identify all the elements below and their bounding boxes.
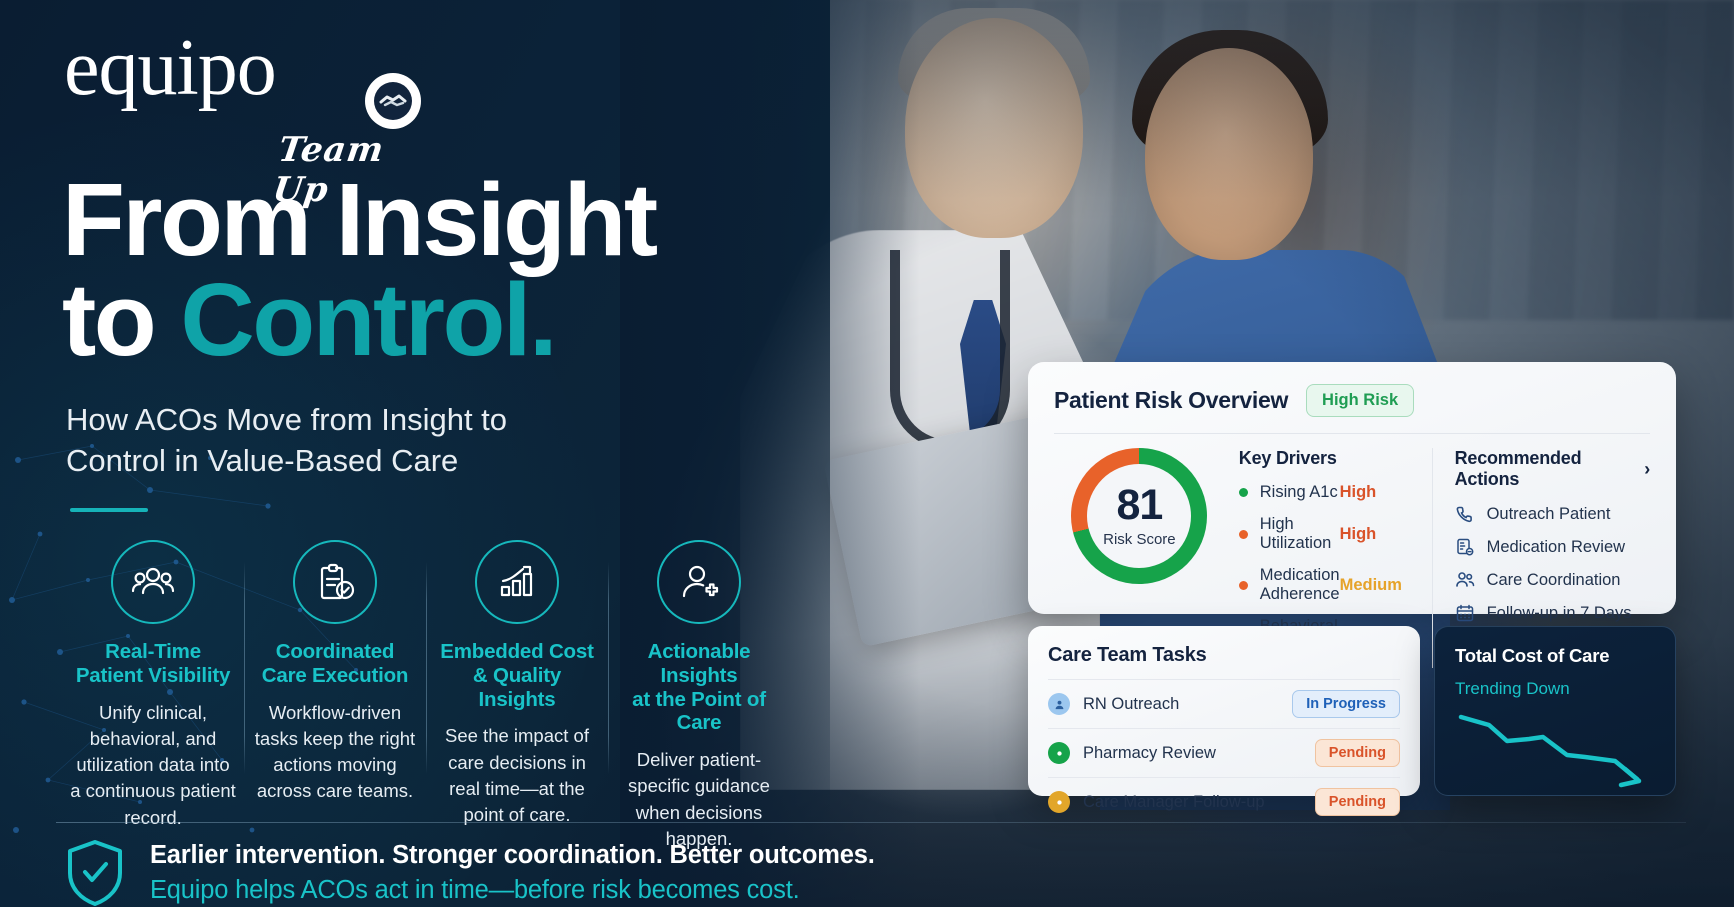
calendar-icon xyxy=(1455,603,1475,623)
closing-banner: Earlier intervention. Stronger coordinat… xyxy=(64,838,875,907)
subheadline: How ACOs Move from Insight to Control in… xyxy=(66,400,626,482)
cost-trend-line-chart xyxy=(1455,707,1655,793)
task-status-icon xyxy=(1048,791,1070,813)
clipboard-check-icon xyxy=(293,540,377,624)
feature-body: Deliver patient-specific guidance when d… xyxy=(616,747,782,852)
key-drivers-heading: Key Drivers xyxy=(1239,448,1418,469)
recommended-action-item[interactable]: Follow-up in 7 Days xyxy=(1455,603,1650,623)
recommended-action-item[interactable]: Outreach Patient xyxy=(1455,504,1650,524)
feature-body: Unify clinical, behavioral, and utilizat… xyxy=(70,700,236,831)
recommended-action-item[interactable]: Care Coordination xyxy=(1455,570,1650,590)
accent-rule xyxy=(70,508,148,512)
dot-glyph-icon xyxy=(1055,798,1064,807)
card-title: Total Cost of Care xyxy=(1455,645,1655,667)
feature-title: Real-Time Patient Visibility xyxy=(70,640,236,688)
care-team-tasks-card: Care Team Tasks RN Outreach In Progress … xyxy=(1028,626,1420,796)
key-driver-value: High xyxy=(1340,525,1418,544)
banner-line-1: Earlier intervention. Stronger coordinat… xyxy=(150,841,875,870)
table-row[interactable]: Care Manager Follow-up Pending xyxy=(1048,777,1400,826)
feature-title: Actionable Insights at the Point of Care xyxy=(616,640,782,735)
risk-score-value: 81 xyxy=(1103,484,1176,527)
user-plus-icon xyxy=(657,540,741,624)
task-name: Care Manager Follow-up xyxy=(1083,793,1302,812)
action-label: Care Coordination xyxy=(1487,571,1621,590)
task-status-icon xyxy=(1048,742,1070,764)
card-header: Patient Risk Overview High Risk xyxy=(1028,362,1676,417)
key-driver-name: Medication Adherence xyxy=(1260,566,1340,604)
feature-body: See the impact of care decisions in real… xyxy=(434,723,600,828)
phone-icon xyxy=(1455,504,1475,524)
bar-chart-arrow-icon xyxy=(475,540,559,624)
banner-line-2: Equipo helps ACOs act in time—before ris… xyxy=(150,876,875,905)
task-status-icon xyxy=(1048,693,1070,715)
page-title: From Insight to Control. xyxy=(62,170,782,370)
feature-title-line-2: at the Point of Care xyxy=(616,688,782,736)
trend-label: Trending Down xyxy=(1455,679,1655,699)
feature-column-actionable-insights-point-of-care: Actionable Insights at the Point of Care… xyxy=(608,540,790,852)
task-name: RN Outreach xyxy=(1083,695,1279,714)
feature-title-line-2: Care Execution xyxy=(252,664,418,688)
feature-title: Embedded Cost & Quality Insights xyxy=(434,640,600,711)
status-badge: Pending xyxy=(1315,739,1400,767)
headline-line-1: From Insight xyxy=(62,162,656,277)
subheadline-line-1: How ACOs Move from Insight to xyxy=(66,400,626,441)
feature-columns: Real-Time Patient Visibility Unify clini… xyxy=(62,540,792,852)
chevron-right-icon[interactable]: › xyxy=(1644,459,1650,480)
key-driver-value: Medium xyxy=(1340,576,1418,595)
key-driver-value: High xyxy=(1340,483,1418,502)
headline-line-2-accent: Control. xyxy=(180,262,555,377)
feature-title-line-2: & Quality Insights xyxy=(434,664,600,712)
status-badge: High Risk xyxy=(1306,384,1414,417)
recommended-action-item[interactable]: Medication Review xyxy=(1455,537,1650,557)
feature-title-line-2: Patient Visibility xyxy=(70,664,236,688)
shield-check-icon xyxy=(64,838,126,907)
divider xyxy=(56,822,1686,823)
feature-title-line-1: Real-Time xyxy=(70,640,236,664)
feature-title-line-1: Coordinated xyxy=(252,640,418,664)
feature-column-real-time-patient-visibility: Real-Time Patient Visibility Unify clini… xyxy=(62,540,244,852)
risk-score-label: Risk Score xyxy=(1103,531,1176,548)
prescription-icon xyxy=(1455,537,1475,557)
risk-donut-chart: 81 Risk Score xyxy=(1071,448,1207,584)
handshake-icon xyxy=(365,73,421,129)
total-cost-of-care-card: Total Cost of Care Trending Down xyxy=(1434,626,1676,796)
severity-dot-icon xyxy=(1239,530,1248,539)
status-badge: In Progress xyxy=(1292,690,1400,718)
action-label: Follow-up in 7 Days xyxy=(1487,604,1632,623)
key-driver-name: Rising A1c xyxy=(1260,483,1340,502)
table-row[interactable]: Pharmacy Review Pending xyxy=(1048,728,1400,777)
feature-title: Coordinated Care Execution xyxy=(252,640,418,688)
patient-risk-overview-card: Patient Risk Overview High Risk 81 Risk … xyxy=(1028,362,1676,614)
table-row[interactable]: RN Outreach In Progress xyxy=(1048,679,1400,728)
task-name: Pharmacy Review xyxy=(1083,744,1302,763)
status-badge: Pending xyxy=(1315,788,1400,816)
people-group-icon xyxy=(111,540,195,624)
card-title: Patient Risk Overview xyxy=(1054,387,1288,414)
action-label: Medication Review xyxy=(1487,538,1625,557)
headline-line-2-plain: to xyxy=(62,262,180,377)
action-label: Outreach Patient xyxy=(1487,505,1611,524)
feature-body: Workflow-driven tasks keep the right act… xyxy=(252,700,418,805)
key-driver-row: High Utilization High xyxy=(1239,515,1418,553)
logo-wordmark: equipo xyxy=(64,30,276,106)
poster-canvas: equipo Team Up From Insight to Control. … xyxy=(0,0,1734,907)
severity-dot-icon xyxy=(1239,581,1248,590)
key-driver-name: High Utilization xyxy=(1260,515,1340,553)
feature-title-line-1: Embedded Cost xyxy=(434,640,600,664)
key-driver-row: Rising A1c High xyxy=(1239,483,1418,502)
recommended-actions-heading[interactable]: Recommended Actions › xyxy=(1455,448,1650,490)
feature-title-line-1: Actionable Insights xyxy=(616,640,782,688)
recommended-actions-label: Recommended Actions xyxy=(1455,448,1635,490)
severity-dot-icon xyxy=(1239,488,1248,497)
subheadline-line-2: Control in Value-Based Care xyxy=(66,441,626,482)
people-icon xyxy=(1455,570,1475,590)
feature-column-coordinated-care-execution: Coordinated Care Execution Workflow-driv… xyxy=(244,540,426,852)
person-glyph-icon xyxy=(1054,699,1065,710)
card-title: Care Team Tasks xyxy=(1048,644,1400,667)
equipo-logo[interactable]: equipo Team Up xyxy=(64,30,276,106)
key-driver-row: Medication Adherence Medium xyxy=(1239,566,1418,604)
feature-column-embedded-cost-quality-insights: Embedded Cost & Quality Insights See the… xyxy=(426,540,608,852)
pill-glyph-icon xyxy=(1055,749,1064,758)
